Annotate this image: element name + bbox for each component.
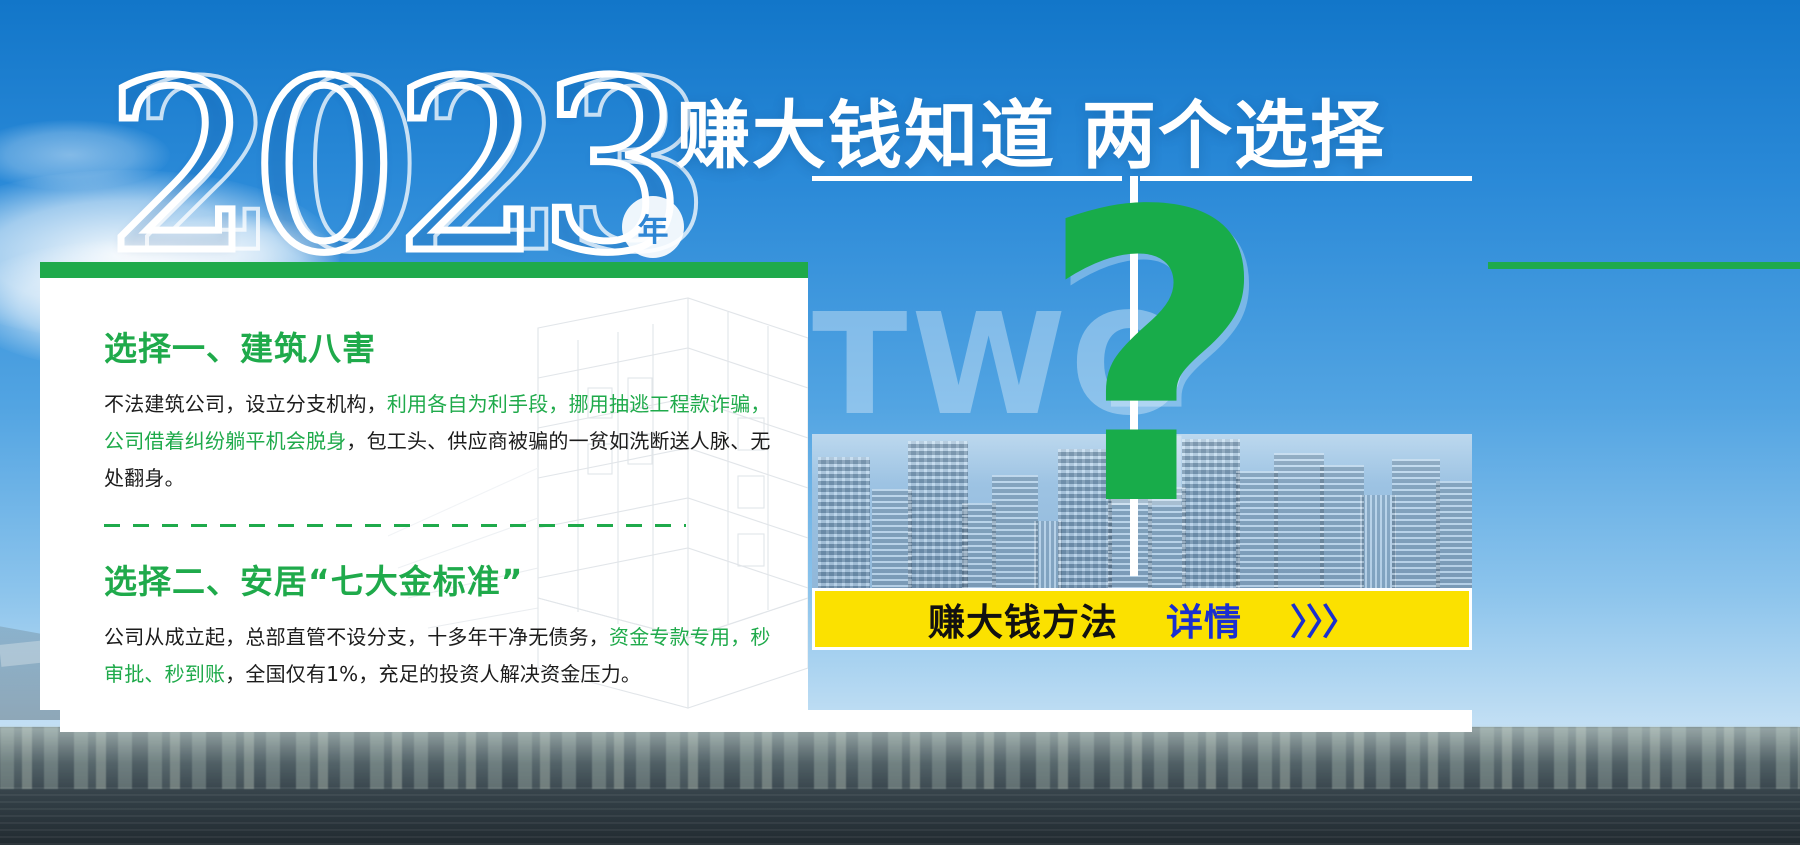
cta-detail-label: 详情 (1166, 592, 1242, 646)
card-section: 选择二、安居“七大金标准” 公司从成立起，总部直管不设分支，十多年干净无债务，资… (104, 555, 772, 693)
info-card: 选择一、建筑八害 不法建筑公司，设立分支机构，利用各自为利手段，挪用抽逃工程款诈… (40, 278, 808, 710)
building (1392, 459, 1440, 599)
right-visual-panel: TWO CHOICES ? 赚大钱方法 详情 〉 (812, 176, 1472, 661)
building (1360, 495, 1396, 599)
card-top-accent-bar (40, 262, 808, 278)
section-body: 不法建筑公司，设立分支机构，利用各自为利手段，挪用抽逃工程款诈骗，公司借着纠纷躺… (104, 386, 772, 498)
water-ripples (0, 787, 1800, 845)
building (962, 503, 996, 599)
section-divider (104, 524, 686, 527)
question-mark-icon: ? (1038, 206, 1270, 518)
cta-button[interactable]: 赚大钱方法 详情 〉〉〉 (812, 588, 1472, 650)
body-text-plain: ，全国仅有1%，充足的投资人解决资金压力。 (225, 662, 641, 686)
card-bottom-bleed (60, 710, 1472, 732)
building (818, 457, 870, 599)
year-unit-badge: 年 (622, 196, 684, 258)
building (992, 475, 1038, 599)
chevron-right-icon: 〉〉〉 (1290, 593, 1356, 645)
building (1320, 465, 1364, 599)
section-body: 公司从成立起，总部直管不设分支，十多年干净无债务，资金专款专用，秒审批、秒到账，… (104, 619, 772, 693)
building (908, 441, 968, 599)
right-edge-accent-bar (1488, 262, 1800, 269)
page-title: 赚大钱知道两个选择 (676, 76, 1386, 183)
banner-stage: 2023 2023 年 赚大钱知道两个选择 TWO CHOICES (0, 0, 1800, 845)
cta-main-label: 赚大钱方法 (928, 592, 1118, 646)
section-title: 选择一、建筑八害 (104, 322, 772, 370)
card-section: 选择一、建筑八害 不法建筑公司，设立分支机构，利用各自为利手段，挪用抽逃工程款诈… (104, 322, 772, 498)
headline-right: 两个选择 (1082, 93, 1386, 179)
body-text-plain: 不法建筑公司，设立分支机构， (104, 392, 387, 416)
building (1274, 453, 1324, 599)
body-text-plain: 公司从成立起，总部直管不设分支，十多年干净无债务， (104, 625, 609, 649)
building (1436, 481, 1472, 599)
waterfront-sheen (0, 727, 1800, 793)
headline-left: 赚大钱知道 (676, 93, 1056, 179)
section-title: 选择二、安居“七大金标准” (104, 555, 772, 603)
building (872, 489, 912, 599)
